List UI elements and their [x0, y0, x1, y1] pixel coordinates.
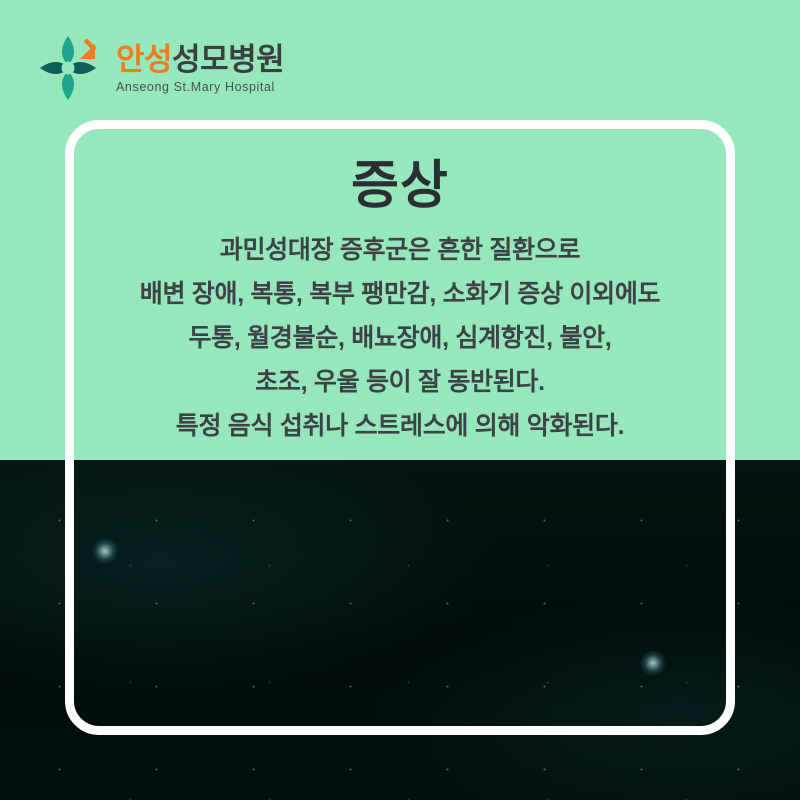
info-card: 안성성모병원 Anseong St.Mary Hospital 증상 과민성대장…: [0, 0, 800, 800]
body-line: 과민성대장 증후군은 흔한 질환으로: [80, 228, 720, 272]
photo-dust-particles: [0, 460, 800, 800]
body-line: 특정 음식 섭취나 스트레스에 의해 악화된다.: [80, 404, 720, 448]
body-text: 과민성대장 증후군은 흔한 질환으로 배변 장애, 복통, 복부 팽만감, 소화…: [80, 228, 720, 448]
arrow-down-left-icon: [80, 38, 97, 59]
body-line: 배변 장애, 복통, 복부 팽만감, 소화기 증상 이외에도: [80, 272, 720, 316]
hospital-logo: 안성성모병원 Anseong St.Mary Hospital: [38, 34, 284, 102]
logo-wordmark: 안성성모병원 Anseong St.Mary Hospital: [116, 44, 284, 94]
logo-name-rest: 성모병원: [172, 42, 284, 77]
photo-glow-dot: [640, 650, 666, 676]
photo-glow-dot: [92, 538, 118, 564]
bacteria-photo: [0, 460, 800, 800]
body-line: 초조, 우울 등이 잘 동반된다.: [80, 360, 720, 404]
logo-name-highlight: 안성: [116, 42, 172, 77]
four-petal-cross-icon: [38, 34, 110, 102]
page-title: 증상: [0, 143, 800, 218]
logo-english-name: Anseong St.Mary Hospital: [116, 80, 284, 94]
body-line: 두통, 월경불순, 배뇨장애, 심계항진, 불안,: [80, 316, 720, 360]
